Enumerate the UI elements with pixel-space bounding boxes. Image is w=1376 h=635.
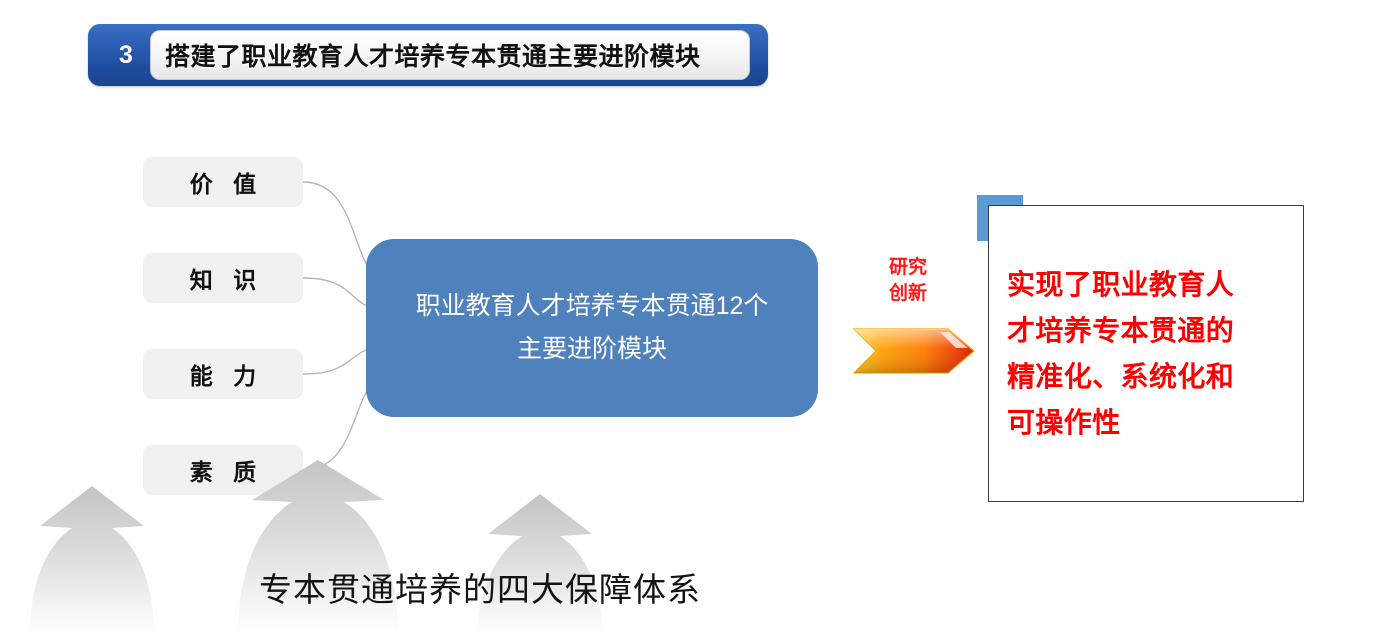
result-line-3: 精准化、系统化和 <box>1007 361 1234 392</box>
chevron-right-arrow-icon <box>852 325 976 377</box>
central-module-text: 职业教育人才培养专本贯通12个 主要进阶模块 <box>416 285 769 371</box>
foundation-caption: 专本贯通培养的四大保障体系 <box>0 563 960 611</box>
result-box[interactable]: 实现了职业教育人 才培养专本贯通的 精准化、系统化和 可操作性 <box>988 205 1304 502</box>
attribute-box-ability[interactable]: 能 力 <box>143 349 303 399</box>
attribute-box-value[interactable]: 价 值 <box>143 157 303 207</box>
transition-label: 研究 创新 <box>862 255 954 307</box>
attribute-label: 知 识 <box>183 261 263 295</box>
central-module-line-1: 职业教育人才培养专本贯通12个 <box>416 292 769 320</box>
central-module-line-2: 主要进阶模块 <box>517 335 667 363</box>
central-module-box[interactable]: 职业教育人才培养专本贯通12个 主要进阶模块 <box>366 239 818 417</box>
result-line-4: 可操作性 <box>1007 407 1121 438</box>
result-line-2: 才培养专本贯通的 <box>1007 315 1234 346</box>
result-text: 实现了职业教育人 才培养专本贯通的 精准化、系统化和 可操作性 <box>989 262 1252 446</box>
attribute-box-knowledge[interactable]: 知 识 <box>143 253 303 303</box>
attribute-label: 能 力 <box>183 357 263 391</box>
transition-label-line-2: 创新 <box>889 283 927 304</box>
transition-label-line-1: 研究 <box>889 257 927 278</box>
attribute-label: 价 值 <box>183 165 263 199</box>
foundation-arrow-left <box>30 486 154 635</box>
result-line-1: 实现了职业教育人 <box>1007 269 1234 300</box>
